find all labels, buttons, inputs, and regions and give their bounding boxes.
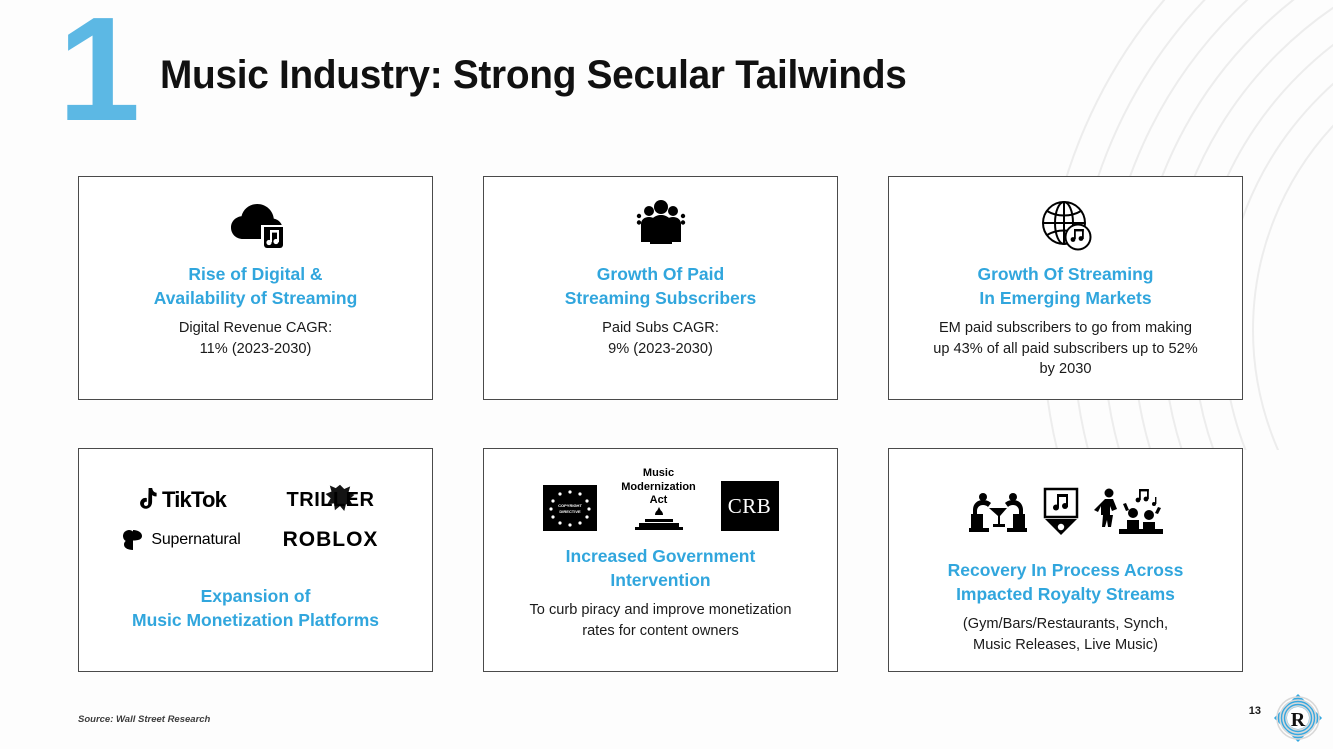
mma-label-line-3: Act (650, 494, 668, 507)
card-expansion-monetization-platforms[interactable]: TikTok TRILLER Supernatural (78, 448, 433, 672)
section-number-badge: 1 (58, 0, 136, 144)
card-heading-line-2: Impacted Royalty Streams (948, 583, 1184, 607)
card-recovery-royalty-streams[interactable]: Recovery In Process Across Impacted Roya… (888, 448, 1243, 672)
card-heading: Recovery In Process Across Impacted Roya… (948, 559, 1184, 607)
card-body-line-1: To curb piracy and improve monetization (529, 600, 791, 621)
eu-logo-label-line-1: COPYRIGHT (558, 503, 582, 508)
government-logo-row: COPYRIGHT DIRECTIVE Music Modernization … (543, 469, 779, 531)
card-body: EM paid subscribers to go from making up… (933, 318, 1197, 380)
card-heading-line-2: In Emerging Markets (978, 287, 1154, 311)
platform-logo-grid: TikTok TRILLER Supernatural (106, 487, 406, 553)
brand-logo-letter: R (1291, 709, 1306, 731)
card-heading: Expansion of Music Monetization Platform… (132, 585, 379, 633)
card-growth-of-paid-subscribers[interactable]: Growth Of Paid Streaming Subscribers Pai… (483, 176, 838, 400)
card-heading-line-1: Expansion of (132, 585, 379, 609)
card-body-line-1: Digital Revenue CAGR: (179, 318, 332, 339)
card-body-line-2: rates for content owners (529, 621, 791, 642)
card-rise-of-digital[interactable]: Rise of Digital & Availability of Stream… (78, 176, 433, 400)
source-note: Source: Wall Street Research (78, 714, 210, 725)
music-modernization-act-logo: Music Modernization Act (605, 467, 713, 531)
tiktok-logo: TikTok (135, 487, 226, 513)
page-number: 13 (1249, 705, 1261, 717)
card-heading-line-1: Recovery In Process Across (948, 559, 1184, 583)
supernatural-logo: Supernatural (120, 527, 240, 553)
card-increased-government-intervention[interactable]: COPYRIGHT DIRECTIVE Music Modernization … (483, 448, 838, 672)
card-body: (Gym/Bars/Restaurants, Synch, Music Rele… (963, 614, 1168, 655)
card-heading-line-1: Rise of Digital & (154, 263, 358, 287)
eu-stars-circle-icon: COPYRIGHT DIRECTIVE (543, 485, 597, 531)
card-body-line-2: 11% (2023-2030) (179, 339, 332, 360)
mma-label-line-1: Music (643, 467, 674, 480)
card-heading-line-1: Growth Of Streaming (978, 263, 1154, 287)
tiktok-note-icon (135, 488, 157, 512)
capitol-building-icon (631, 507, 687, 531)
people-group-icon (629, 198, 693, 250)
triller-logo: TRILLER (287, 489, 375, 512)
restaurant-dining-icon (967, 488, 1029, 536)
card-heading-line-1: Growth Of Paid (565, 263, 757, 287)
card-body-line-1: (Gym/Bars/Restaurants, Synch, (963, 614, 1168, 635)
card-heading-line-1: Increased Government (566, 545, 756, 569)
card-body-line-3: by 2030 (933, 359, 1197, 380)
card-heading: Rise of Digital & Availability of Stream… (154, 263, 358, 311)
card-body-line-1: Paid Subs CAGR: (602, 318, 719, 339)
card-body-line-1: EM paid subscribers to go from making (933, 318, 1197, 339)
brand-logo: R (1269, 691, 1327, 745)
globe-music-icon (1038, 197, 1094, 251)
supernatural-logo-label: Supernatural (151, 531, 240, 549)
card-heading: Growth Of Paid Streaming Subscribers (565, 263, 757, 311)
synch-music-screen-icon (1041, 487, 1081, 537)
eu-logo-label-line-2: DIRECTIVE (559, 509, 581, 514)
crb-logo: CRB (721, 481, 779, 531)
card-heading-line-2: Intervention (566, 569, 756, 593)
crb-logo-label: CRB (728, 494, 772, 519)
royalty-stream-icon-row (967, 483, 1165, 541)
live-music-crowd-icon (1093, 487, 1165, 537)
feature-card-grid: Rise of Digital & Availability of Stream… (78, 176, 1244, 672)
card-body: Digital Revenue CAGR: 11% (2023-2030) (179, 318, 332, 359)
card-growth-emerging-markets[interactable]: Growth Of Streaming In Emerging Markets … (888, 176, 1243, 400)
card-body-line-2: up 43% of all paid subscribers up to 52% (933, 339, 1197, 360)
slide-canvas: 1 Music Industry: Strong Secular Tailwin… (0, 0, 1333, 749)
mma-label-line-2: Modernization (621, 481, 696, 494)
page-title: Music Industry: Strong Secular Tailwinds (160, 53, 907, 98)
roblox-logo-label: ROBLOX (283, 528, 379, 552)
eu-copyright-directive-logo: COPYRIGHT DIRECTIVE (543, 485, 597, 531)
card-body-line-2: 9% (2023-2030) (602, 339, 719, 360)
triller-logo-label: TRILLER (287, 489, 375, 512)
tiktok-logo-label: TikTok (162, 487, 226, 513)
card-body: Paid Subs CAGR: 9% (2023-2030) (602, 318, 719, 359)
card-icon-area (629, 191, 693, 257)
card-heading-line-2: Music Monetization Platforms (132, 609, 379, 633)
card-heading-line-2: Streaming Subscribers (565, 287, 757, 311)
card-icon-area (225, 191, 287, 257)
brand-logo-mark-icon: R (1269, 691, 1327, 745)
card-heading-line-2: Availability of Streaming (154, 287, 358, 311)
card-icon-area (1038, 191, 1094, 257)
card-heading: Increased Government Intervention (566, 545, 756, 593)
roblox-logo: ROBLOX (283, 528, 379, 552)
card-body: To curb piracy and improve monetization … (529, 600, 791, 641)
supernatural-mark-icon (120, 527, 146, 553)
slide-header: 1 Music Industry: Strong Secular Tailwin… (0, 0, 1333, 150)
cloud-music-note-icon (225, 199, 287, 249)
card-body-line-2: Music Releases, Live Music) (963, 635, 1168, 656)
card-heading: Growth Of Streaming In Emerging Markets (978, 263, 1154, 311)
